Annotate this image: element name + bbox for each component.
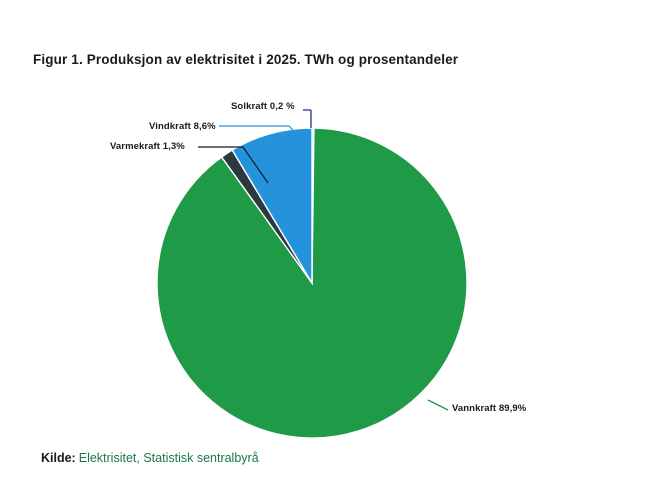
source-link[interactable]: Elektrisitet, Statistisk sentralbyrå (79, 451, 259, 465)
pie-chart (0, 0, 650, 500)
pie-slice-group (157, 128, 467, 438)
source-line: Kilde:Elektrisitet, Statistisk sentralby… (41, 451, 259, 465)
slice-label-solkraft: Solkraft 0,2 % (231, 101, 295, 112)
slice-label-vannkraft: Vannkraft 89,9% (452, 403, 526, 414)
source-label: Kilde: (41, 451, 76, 465)
figure-container: Figur 1. Produksjon av elektrisitet i 20… (0, 0, 650, 500)
slice-label-vindkraft: Vindkraft 8,6% (149, 121, 216, 132)
leader-line-vannkraft (428, 400, 448, 410)
slice-label-varmekraft: Varmekraft 1,3% (110, 141, 185, 152)
